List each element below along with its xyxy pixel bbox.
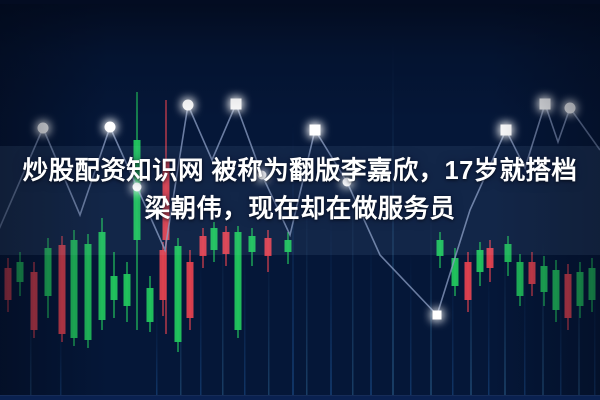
headline-line-2: 梁朝伟，现在却在做服务员 xyxy=(8,190,592,228)
bottom-edge-strip xyxy=(0,395,600,400)
page-title: 炒股配资知识网 被称为翻版李嘉欣，17岁就搭档 梁朝伟，现在却在做服务员 xyxy=(0,152,600,228)
top-edge-strip xyxy=(0,0,600,4)
headline-line-1: 炒股配资知识网 被称为翻版李嘉欣，17岁就搭档 xyxy=(23,157,578,185)
banner-image: 炒股配资知识网 被称为翻版李嘉欣，17岁就搭档 梁朝伟，现在却在做服务员 xyxy=(0,0,600,400)
